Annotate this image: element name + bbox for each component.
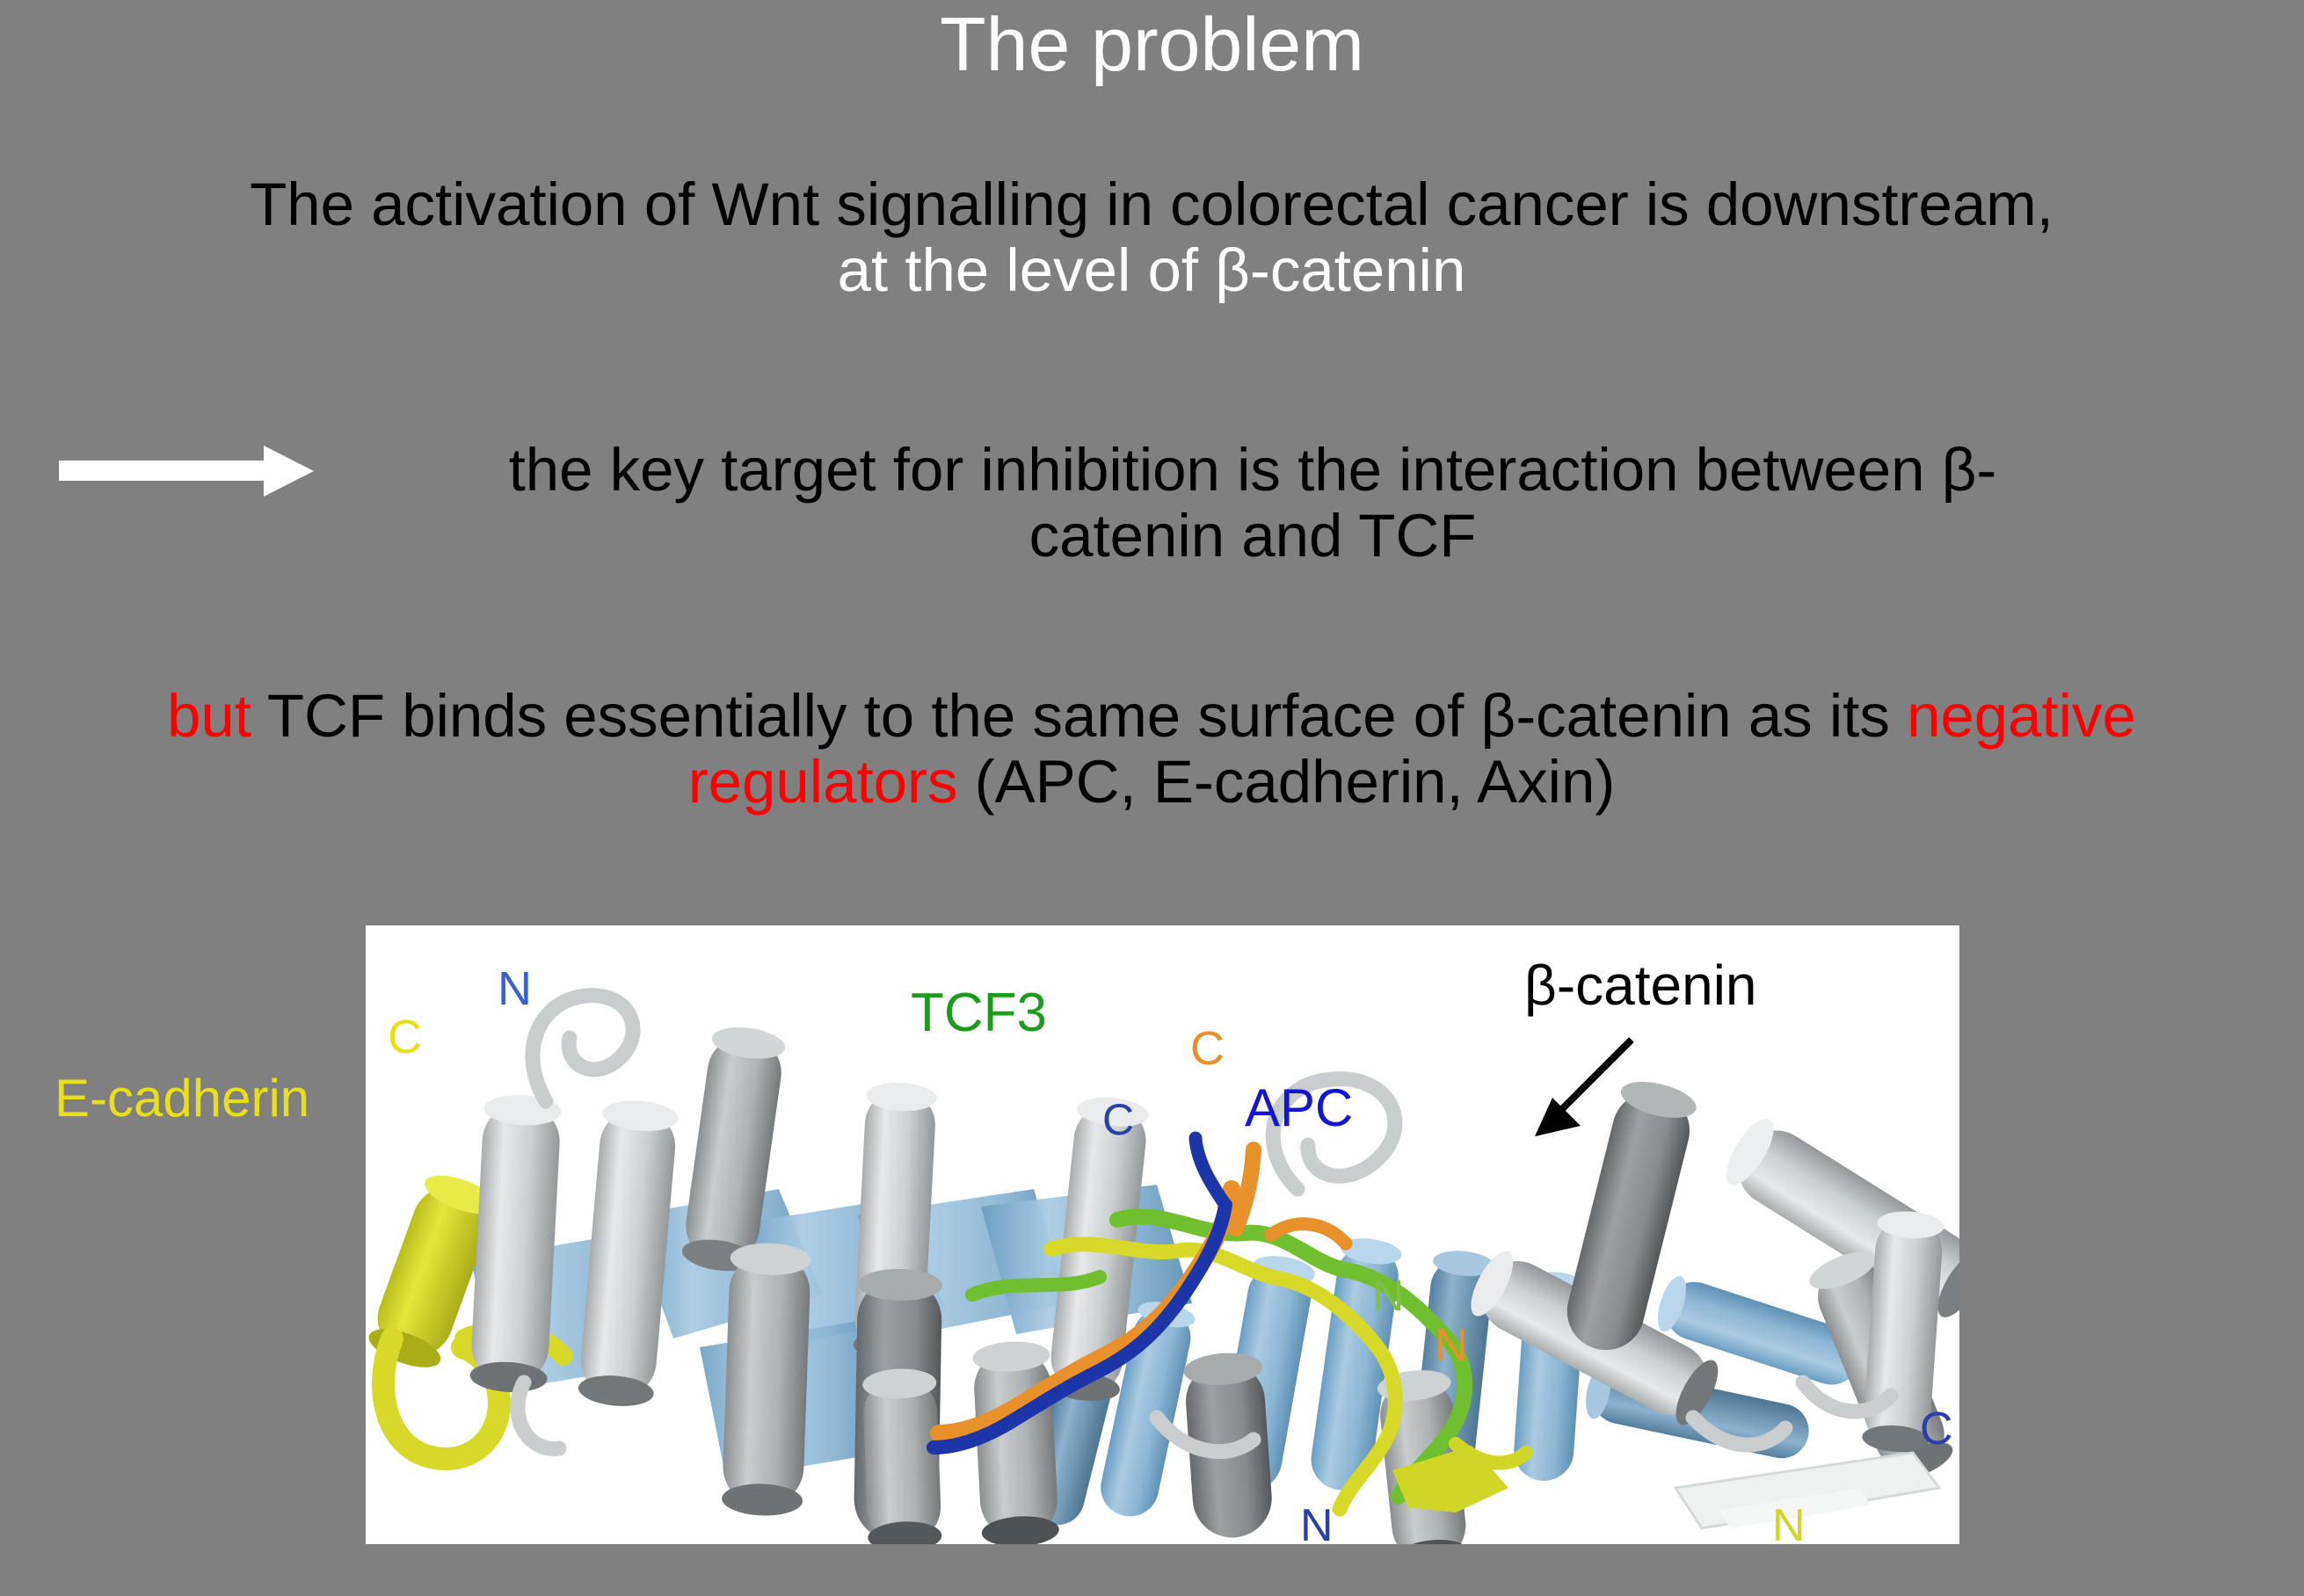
paragraph-caveat: but TCF binds essentially to the same su… xyxy=(114,684,2189,815)
terminus-label-C-blue-right: C xyxy=(1920,1404,1953,1455)
terminus-label-C-blue-mid: C xyxy=(1102,1095,1134,1144)
terminus-label-N-blue-bottom: N xyxy=(1300,1500,1334,1544)
conclusion-line-2: catenin and TCF xyxy=(1029,502,1477,569)
caveat-text-1: TCF binds essentially to the same surfac… xyxy=(251,682,1907,750)
caveat-emphasis-but: but xyxy=(167,682,251,750)
label-beta-catenin: β-catenin xyxy=(1524,954,1757,1017)
terminus-label-N-green: N xyxy=(1372,1271,1404,1320)
terminus-label-C-yellow: C xyxy=(388,1011,422,1063)
label-tcf3: TCF3 xyxy=(911,983,1047,1043)
slide-root: The problem The activation of Wnt signal… xyxy=(0,0,2304,1596)
terminus-label-C-orange: C xyxy=(1190,1022,1225,1075)
page-title: The problem xyxy=(0,5,2304,84)
protein-structure-figure: N C C C C N N N C N TCF3 APC β-catenin xyxy=(366,925,1959,1544)
terminus-label-N-orange: N xyxy=(1435,1320,1468,1371)
paragraph-premise: The activation of Wnt signalling in colo… xyxy=(53,172,2250,303)
terminus-label-N-blue-topleft: N xyxy=(498,962,532,1015)
premise-line-1: The activation of Wnt signalling in colo… xyxy=(250,170,2053,238)
terminus-label-N-yellow-right: N xyxy=(1772,1500,1806,1544)
label-e-cadherin: E-cadherin xyxy=(55,1068,309,1128)
caveat-text-2: (APC, E-cadherin, Axin) xyxy=(958,748,1616,816)
conclusion-line-1: the key target for inhibition is the int… xyxy=(509,436,1997,504)
label-apc: APC xyxy=(1245,1078,1353,1137)
paragraph-conclusion: the key target for inhibition is the int… xyxy=(404,438,2101,569)
implication-arrow-icon xyxy=(55,441,318,503)
premise-line-2: at the level of β-catenin xyxy=(838,236,1466,304)
terminus-label-C-green: C xyxy=(678,1536,709,1544)
